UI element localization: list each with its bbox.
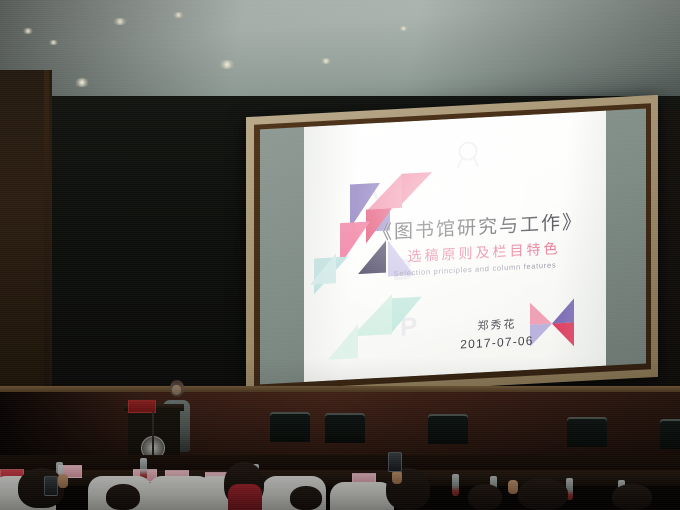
podium-red-sign-label [129, 401, 155, 412]
audience-head [612, 484, 652, 510]
raised-hand [508, 480, 518, 494]
smartphone [388, 452, 402, 472]
audience-person-red-top [228, 484, 262, 510]
stage-chair [567, 417, 607, 447]
downlight-icon [172, 12, 185, 18]
search-icon [454, 139, 482, 171]
downlight-icon [48, 40, 59, 45]
stage-chair [660, 419, 680, 449]
raised-hand [58, 474, 68, 488]
triangle-mint-2 [392, 297, 422, 333]
downlight-icon [112, 18, 128, 25]
water-bottle [452, 474, 459, 496]
downlight-icon [22, 28, 34, 34]
audience-chair-back [330, 482, 394, 510]
downlight-icon [398, 26, 409, 31]
stage-chair [428, 414, 468, 444]
screen-surface: B P A [260, 108, 646, 384]
downlight-icon [320, 58, 332, 64]
downlight-icon [218, 60, 236, 69]
smartphone [44, 476, 58, 496]
audience-head [518, 478, 568, 510]
stage-chair [270, 412, 310, 442]
stage-chair [325, 413, 365, 443]
downlight-icon [74, 78, 90, 87]
screen-inner-border: B P A [254, 103, 651, 391]
triangle-mint-3 [328, 324, 358, 360]
audience-head [290, 486, 322, 510]
projection-screen-frame: B P A [246, 95, 658, 399]
triangle-mint-1 [352, 294, 392, 336]
audience-head [468, 484, 502, 510]
projected-slide: B P A [304, 111, 606, 382]
triangle-teal-2 [310, 253, 336, 284]
speaker-face [172, 385, 181, 395]
photo-scene: B P A [0, 0, 680, 510]
triangle-pink-2 [402, 172, 432, 204]
raised-hand [392, 470, 402, 484]
audience-head [106, 484, 140, 510]
